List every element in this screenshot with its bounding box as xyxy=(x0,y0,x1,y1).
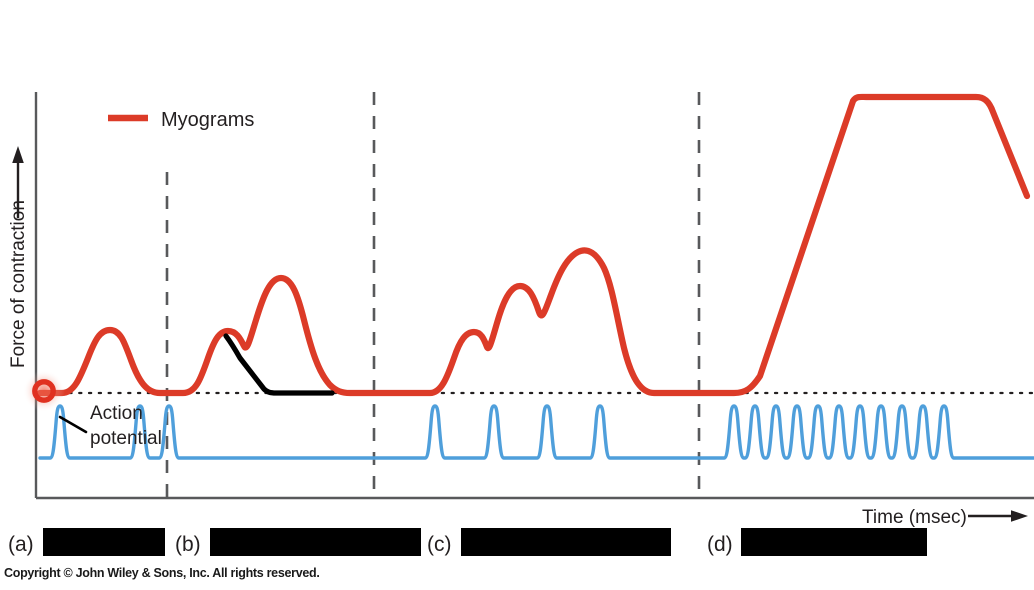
panel-letter-b: (b) xyxy=(175,534,201,555)
y-axis-label: Force of contraction xyxy=(8,200,29,368)
legend-label-myograms: Myograms xyxy=(161,109,254,131)
panel-caption-redaction-b xyxy=(210,528,421,556)
myogram-trace xyxy=(40,97,1027,393)
x-axis-label-group: Time (msec) xyxy=(862,507,1028,528)
myogram-figure: Force of contraction Time (msec) Myogram… xyxy=(0,0,1034,590)
myogram-plot: Force of contraction Time (msec) Myogram… xyxy=(0,0,1034,590)
copyright-notice: Copyright © John Wiley & Sons, Inc. All … xyxy=(4,566,320,580)
panel-caption-redaction-a xyxy=(43,528,165,556)
section-dividers xyxy=(167,92,699,498)
panel-caption-redaction-c xyxy=(461,528,671,556)
legend: Myograms xyxy=(108,109,254,131)
action-potential-label-line2: potential xyxy=(90,428,162,449)
action-potential-label-line1: Action xyxy=(90,403,143,424)
panel-letter-c: (c) xyxy=(427,534,452,555)
y-axis-label-group: Force of contraction xyxy=(8,146,29,368)
x-axis-label: Time (msec) xyxy=(862,507,967,528)
panel-caption-redaction-d xyxy=(741,528,927,556)
stimulus-origin-dot-icon xyxy=(23,370,65,412)
action-potential-trace xyxy=(40,406,1034,458)
panel-letter-d: (d) xyxy=(707,534,733,555)
x-axis-arrow-icon xyxy=(968,510,1028,522)
panel-caption-row: (a) (b) (c) (d) xyxy=(0,528,1034,558)
action-potential-annotation: Action potential xyxy=(60,403,162,449)
panel-letter-a: (a) xyxy=(8,534,34,555)
